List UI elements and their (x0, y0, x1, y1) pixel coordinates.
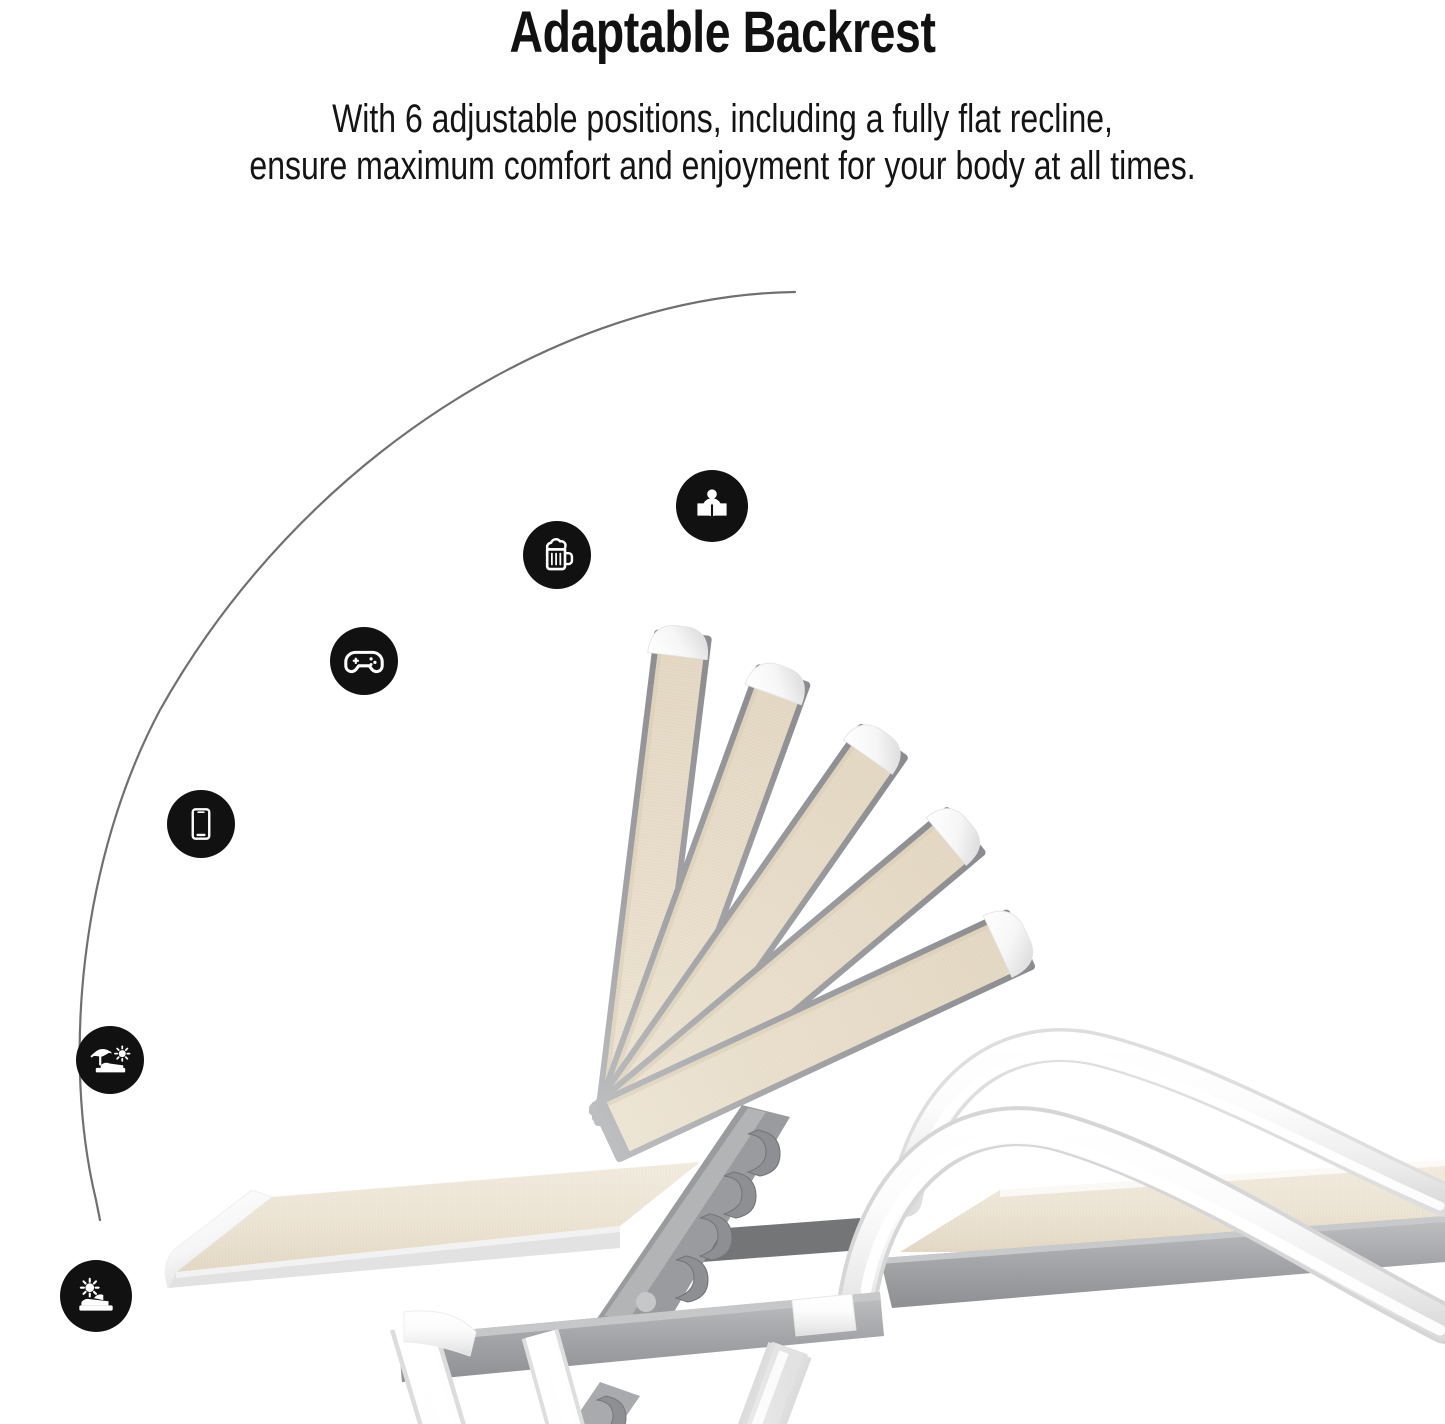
sun-nap-icon (76, 1026, 144, 1094)
product-illustration (0, 200, 1445, 1424)
product-feature-image: Adaptable Backrest With 6 adjustable pos… (0, 0, 1445, 1424)
subtitle-line-2: ensure maximum comfort and enjoyment for… (145, 143, 1301, 190)
gamepad-icon (330, 627, 398, 695)
subtitle-line-1: With 6 adjustable positions, including a… (145, 96, 1301, 143)
open-book-icon (676, 470, 748, 542)
page-title: Adaptable Backrest (145, 2, 1301, 64)
page-subtitle: With 6 adjustable positions, including a… (145, 96, 1301, 190)
sun-lounger-icon (60, 1260, 132, 1332)
smartphone-icon (167, 790, 235, 858)
backrest-position-1-flat (165, 1162, 700, 1288)
beer-mug-icon (523, 521, 591, 589)
